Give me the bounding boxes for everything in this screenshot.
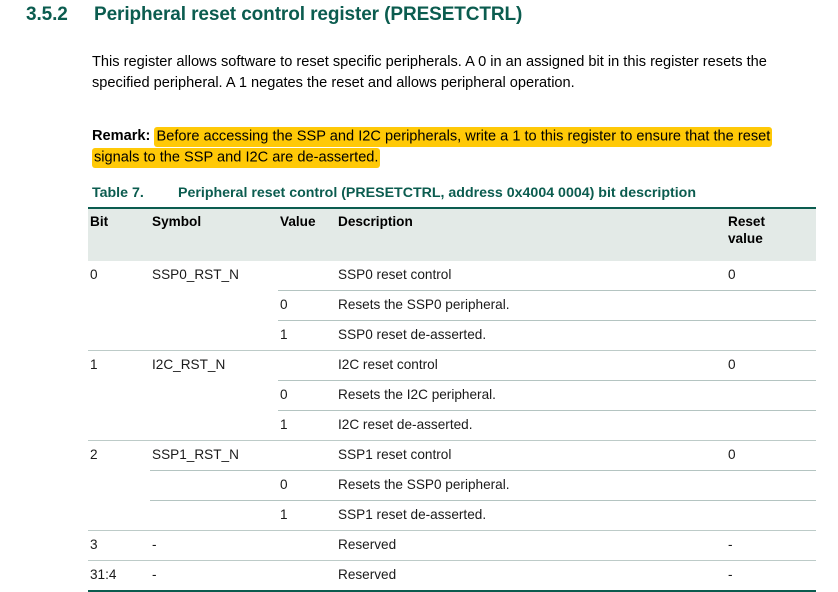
cell-symbol: I2C_RST_N bbox=[150, 351, 278, 381]
cell-value: 1 bbox=[278, 321, 336, 351]
cell-bit bbox=[88, 321, 150, 351]
cell-value: 0 bbox=[278, 291, 336, 321]
cell-symbol bbox=[150, 321, 278, 351]
table-caption: Table 7. Peripheral reset control (PRESE… bbox=[92, 185, 832, 201]
section-number: 3.5.2 bbox=[26, 4, 94, 26]
table-row: 0 Resets the SSP0 peripheral. bbox=[88, 291, 816, 321]
cell-reset-value: - bbox=[726, 561, 816, 592]
remark-label: Remark: bbox=[92, 128, 150, 144]
cell-value: 0 bbox=[278, 381, 336, 411]
cell-value: 1 bbox=[278, 411, 336, 441]
cell-description: SSP0 reset control bbox=[336, 261, 726, 291]
cell-symbol bbox=[150, 471, 278, 501]
table-row: 0 Resets the I2C peripheral. bbox=[88, 381, 816, 411]
cell-description: I2C reset de-asserted. bbox=[336, 411, 726, 441]
cell-reset-value bbox=[726, 291, 816, 321]
table-row: 0 Resets the SSP0 peripheral. bbox=[88, 471, 816, 501]
column-header-symbol: Symbol bbox=[150, 208, 278, 261]
table-header-row: Bit Symbol Value Description Reset value bbox=[88, 208, 816, 261]
cell-reset-value: 0 bbox=[726, 441, 816, 471]
cell-reset-value bbox=[726, 381, 816, 411]
section-heading: 3.5.2 Peripheral reset control register … bbox=[26, 4, 816, 26]
column-header-reset-value: Reset value bbox=[726, 208, 816, 261]
column-header-description: Description bbox=[336, 208, 726, 261]
cell-bit: 1 bbox=[88, 351, 150, 381]
cell-reset-value bbox=[726, 501, 816, 531]
cell-value: 1 bbox=[278, 501, 336, 531]
cell-reset-value bbox=[726, 321, 816, 351]
body-paragraph: This register allows software to reset s… bbox=[92, 52, 792, 95]
column-header-value: Value bbox=[278, 208, 336, 261]
cell-bit: 31:4 bbox=[88, 561, 150, 592]
cell-reset-value: 0 bbox=[726, 351, 816, 381]
cell-bit bbox=[88, 501, 150, 531]
cell-symbol bbox=[150, 381, 278, 411]
table-row: 1 I2C_RST_N I2C reset control 0 bbox=[88, 351, 816, 381]
cell-description: Resets the SSP0 peripheral. bbox=[336, 291, 726, 321]
cell-symbol bbox=[150, 501, 278, 531]
cell-bit bbox=[88, 381, 150, 411]
register-bit-description-table: Bit Symbol Value Description Reset value… bbox=[88, 207, 816, 592]
cell-description: Reserved bbox=[336, 531, 726, 561]
cell-bit bbox=[88, 471, 150, 501]
cell-symbol: - bbox=[150, 561, 278, 592]
table-header: Bit Symbol Value Description Reset value bbox=[88, 208, 816, 261]
cell-bit: 2 bbox=[88, 441, 150, 471]
table-row: 31:4 - Reserved - bbox=[88, 561, 816, 592]
cell-reset-value bbox=[726, 411, 816, 441]
table-caption-text: Peripheral reset control (PRESETCTRL, ad… bbox=[178, 185, 832, 201]
cell-symbol bbox=[150, 291, 278, 321]
table-row: 3 - Reserved - bbox=[88, 531, 816, 561]
cell-symbol: SSP1_RST_N bbox=[150, 441, 278, 471]
cell-value bbox=[278, 531, 336, 561]
cell-value bbox=[278, 561, 336, 592]
remark-block: Remark: Before accessing the SSP and I2C… bbox=[92, 126, 798, 169]
table-row: 1 SSP1 reset de-asserted. bbox=[88, 501, 816, 531]
cell-symbol bbox=[150, 411, 278, 441]
table-row: 1 I2C reset de-asserted. bbox=[88, 411, 816, 441]
section-title: Peripheral reset control register (PRESE… bbox=[94, 4, 816, 26]
cell-symbol: SSP0_RST_N bbox=[150, 261, 278, 291]
cell-value bbox=[278, 351, 336, 381]
cell-symbol: - bbox=[150, 531, 278, 561]
table-body: 0 SSP0_RST_N SSP0 reset control 0 0 Rese… bbox=[88, 261, 816, 591]
cell-reset-value bbox=[726, 471, 816, 501]
cell-value bbox=[278, 261, 336, 291]
table-caption-label: Table 7. bbox=[92, 185, 178, 201]
table-row: 0 SSP0_RST_N SSP0 reset control 0 bbox=[88, 261, 816, 291]
document-page: 3.5.2 Peripheral reset control register … bbox=[0, 0, 838, 572]
cell-bit bbox=[88, 291, 150, 321]
cell-description: SSP0 reset de-asserted. bbox=[336, 321, 726, 351]
remark-highlighted-text: Before accessing the SSP and I2C periphe… bbox=[92, 127, 772, 169]
column-header-bit: Bit bbox=[88, 208, 150, 261]
cell-description: I2C reset control bbox=[336, 351, 726, 381]
cell-description: Reserved bbox=[336, 561, 726, 592]
cell-value: 0 bbox=[278, 471, 336, 501]
cell-description: Resets the SSP0 peripheral. bbox=[336, 471, 726, 501]
cell-bit bbox=[88, 411, 150, 441]
table-row: 1 SSP0 reset de-asserted. bbox=[88, 321, 816, 351]
cell-bit: 3 bbox=[88, 531, 150, 561]
table-row: 2 SSP1_RST_N SSP1 reset control 0 bbox=[88, 441, 816, 471]
cell-reset-value: - bbox=[726, 531, 816, 561]
cell-description: SSP1 reset control bbox=[336, 441, 726, 471]
cell-description: Resets the I2C peripheral. bbox=[336, 381, 726, 411]
cell-reset-value: 0 bbox=[726, 261, 816, 291]
column-header-reset-value-text: Reset value bbox=[728, 213, 774, 247]
cell-value bbox=[278, 441, 336, 471]
cell-description: SSP1 reset de-asserted. bbox=[336, 501, 726, 531]
cell-bit: 0 bbox=[88, 261, 150, 291]
